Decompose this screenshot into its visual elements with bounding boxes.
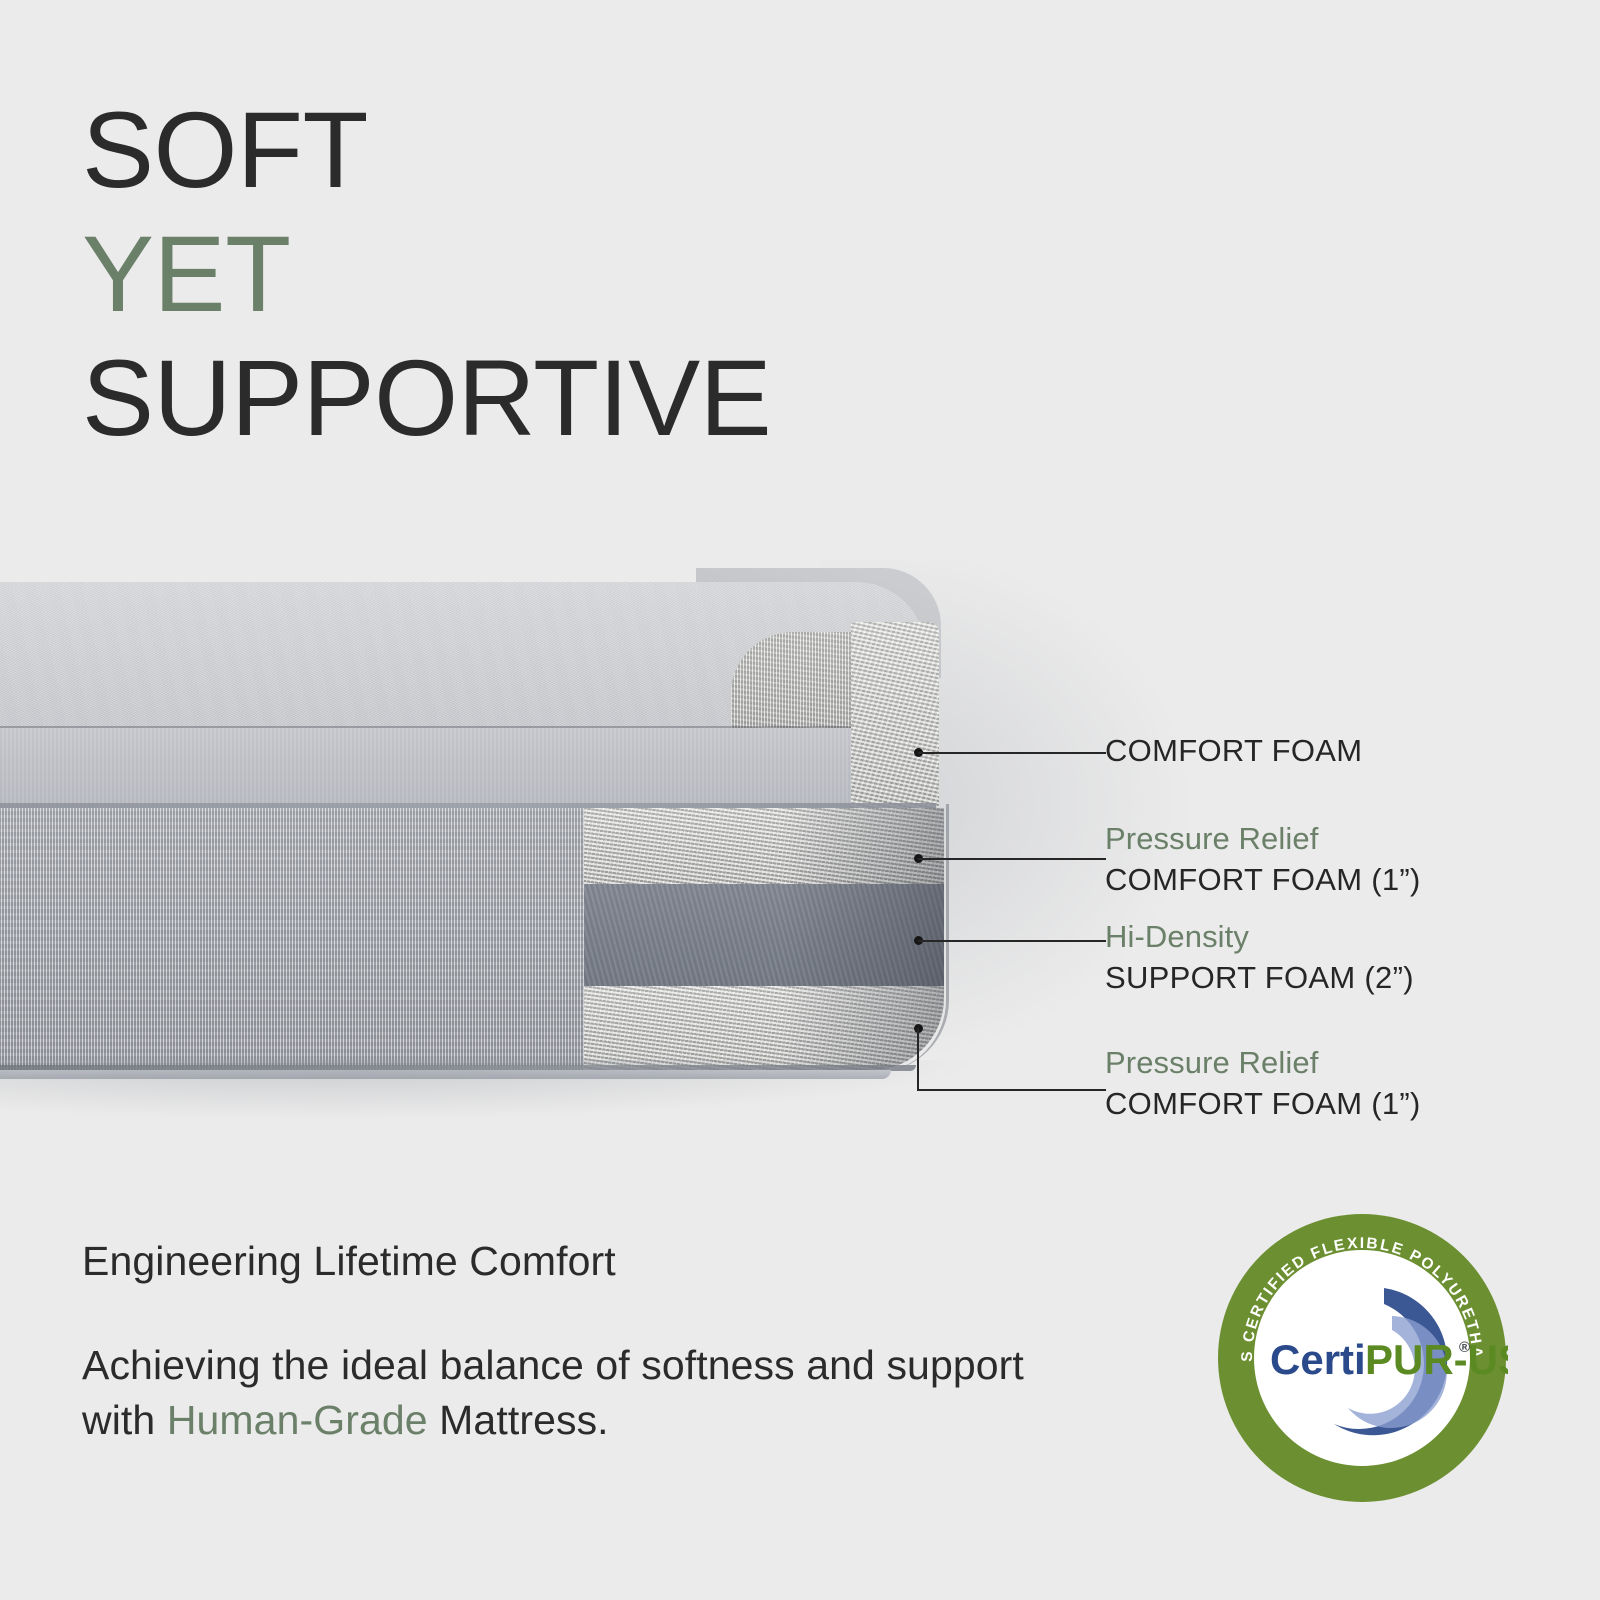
badge-word-certi: Certi	[1270, 1336, 1366, 1383]
callout-hi-density-support-2in: Hi-Density SUPPORT FOAM (2”)	[1105, 916, 1414, 998]
infographic-canvas: SOFT YET SUPPORTIVE	[0, 0, 1600, 1600]
topper-front-face	[0, 728, 891, 810]
badge-word-purus: PUR-US	[1365, 1336, 1508, 1383]
callout-sub-label: Pressure Relief	[1105, 818, 1421, 859]
callout-sub-label: Hi-Density	[1105, 916, 1414, 957]
mattress-bottom-lip	[0, 1070, 891, 1079]
mattress-body-cutaway	[584, 808, 944, 1070]
badge-registered-mark: ®	[1459, 1339, 1470, 1356]
leader-segment-horizontal	[917, 1089, 1106, 1091]
footer-body-part2: Mattress.	[428, 1397, 609, 1443]
callout-main-label: COMFORT FOAM (1”)	[1105, 1083, 1421, 1124]
leader-segment-vertical	[917, 1028, 919, 1090]
certipur-us-badge: CONTAINS CERTIFIED FLEXIBLE POLYURETHANE…	[1216, 1212, 1508, 1504]
footer-body: Achieving the ideal balance of softness …	[82, 1338, 1042, 1448]
headline-line-1: SOFT	[82, 88, 1082, 212]
callout-pressure-relief-comfort-1in-bottom: Pressure Relief COMFORT FOAM (1”)	[1105, 1042, 1421, 1124]
callout-comfort-foam: COMFORT FOAM	[1105, 730, 1362, 771]
callout-pressure-relief-comfort-1in: Pressure Relief COMFORT FOAM (1”)	[1105, 818, 1421, 900]
headline-line-2: YET	[82, 212, 1082, 336]
footer-body-highlight: Human-Grade	[167, 1397, 428, 1443]
callout-main-label: COMFORT FOAM (1”)	[1105, 859, 1421, 900]
leader-segment	[918, 858, 1106, 860]
mattress-cutaway-illustration	[0, 560, 1006, 1080]
headline-block: SOFT YET SUPPORTIVE	[82, 88, 1082, 460]
foam-layer-comfort-bottom	[584, 986, 944, 1070]
headline-line-3: SUPPORTIVE	[82, 336, 1082, 460]
callout-sub-label: Pressure Relief	[1105, 1042, 1421, 1083]
leader-segment	[918, 940, 1106, 942]
topper-cutaway-face	[851, 622, 939, 810]
foam-layer-hi-density-support	[584, 884, 944, 986]
foam-layer-comfort-top	[584, 808, 944, 884]
badge-wordmark: Certi PUR-US ®	[1270, 1336, 1508, 1383]
callout-main-label: SUPPORT FOAM (2”)	[1105, 957, 1414, 998]
leader-segment	[918, 752, 1106, 754]
callout-main-label: COMFORT FOAM	[1105, 730, 1362, 771]
mattress-side-fabric-panel	[0, 808, 586, 1070]
footer-title: Engineering Lifetime Comfort	[82, 1236, 616, 1286]
